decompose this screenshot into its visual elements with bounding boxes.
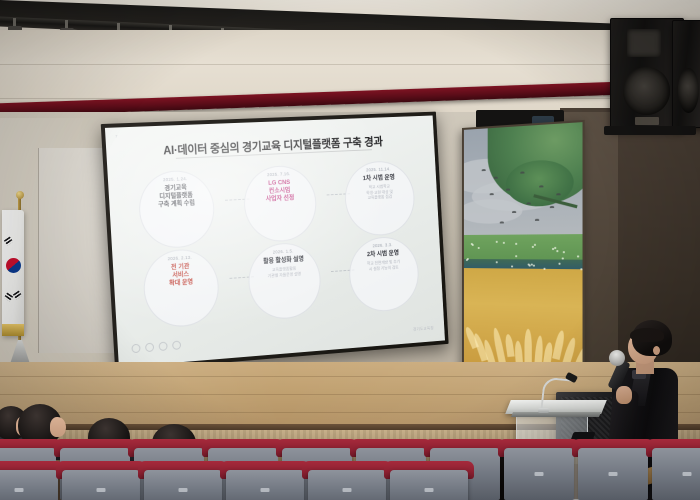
timeline-node: 2026. 3.3.2차 시범 운영학교 전면개방 및 추가시 설정 기능의 검… (339, 240, 427, 274)
mural-bird (535, 219, 539, 221)
speaker-badge (635, 117, 658, 125)
mural-bird (556, 193, 560, 195)
mural-bird (506, 188, 510, 190)
microphone-base (538, 408, 549, 413)
screen-surface: 7 AI·데이터 중심의 경기교육 디지털플랫폼 구축 경과 2025. 1.2… (105, 115, 445, 367)
auditorium-seat[interactable] (226, 470, 304, 500)
slide-dot-icons (131, 340, 181, 353)
dot-4-icon (172, 340, 181, 350)
slide-page-number: 7 (115, 133, 117, 138)
dot-1-icon (131, 344, 140, 354)
auditorium-seat[interactable] (504, 448, 574, 500)
auditorium-seat[interactable] (652, 448, 700, 500)
mural-flower (515, 255, 517, 257)
flag-cloth (2, 210, 24, 336)
lectern-shelf (511, 412, 601, 417)
timeline-node: 2025. 1.24.경기교육디지털플랫폼구축 계획 수립 (128, 174, 224, 211)
mural-bird (550, 206, 554, 208)
timeline-node: 2025. 7.16.LG CNS컨소시엄사업자 선정 (233, 170, 325, 206)
timeline-row-top: 2025. 1.24.경기교육디지털플랫폼구축 계획 수립2025. 7.16.… (108, 164, 435, 180)
mural-flower (477, 247, 479, 249)
auditorium-seat[interactable] (144, 470, 222, 500)
mural-bird (539, 185, 543, 187)
presenter-hand (616, 386, 632, 404)
presenter-fringe (630, 328, 664, 342)
pa-speaker (672, 20, 700, 128)
slide-logo: 경기도교육청 (413, 325, 434, 332)
screen-frame: 7 AI·데이터 중심의 경기교육 디지털플랫폼 구축 경과 2025. 1.2… (101, 112, 449, 372)
timeline-node-heading: LG CNS컨소시엄사업자 선정 (233, 177, 325, 206)
flag-finial-icon (16, 191, 24, 199)
landscape-wall-mural (462, 120, 585, 378)
speaker-mount-bracket (604, 126, 696, 135)
projection-screen: 7 AI·데이터 중심의 경기교육 디지털플랫폼 구축 경과 2025. 1.2… (101, 112, 449, 372)
timeline-node: 2025. 11.14.1차 시범 운영학교 시범학교학생·교원 대상 및교육플… (334, 165, 423, 203)
mural-bird (482, 169, 486, 171)
mural-bird (527, 202, 531, 204)
speaker-tweeter (627, 29, 662, 58)
timeline-node: 2026. 1.5.활용 활성화 설명교육플랫폼활용기관별 자율운영 설명 (237, 246, 329, 280)
flag-taeguk-icon (6, 258, 21, 273)
auditorium-scene: 7 AI·데이터 중심의 경기교육 디지털플랫폼 구축 경과 2025. 1.2… (0, 0, 700, 500)
auditorium-seat[interactable] (390, 470, 468, 500)
mural-flower (495, 241, 497, 243)
mural-flower (558, 262, 560, 264)
auditorium-seat[interactable] (578, 448, 648, 500)
timeline-node-heading: 경기교육디지털플랫폼구축 계획 수립 (128, 182, 223, 211)
mural-bird (520, 171, 524, 173)
mural-flower (532, 265, 534, 267)
mural-bird (500, 221, 504, 223)
mural-flower (577, 255, 579, 257)
flag-fringe (2, 324, 24, 336)
auditorium-seat[interactable] (62, 470, 140, 500)
timeline-node: 2026. 2.13.전 기관서비스확대 운영 (132, 253, 228, 291)
slide-title: AI·데이터 중심의 경기교육 디지털플랫폼 구축 경과 (163, 134, 383, 159)
dot-2-icon (145, 343, 154, 353)
dot-3-icon (159, 342, 168, 352)
south-korea-taegukgi-flag (4, 196, 40, 372)
mural-bird (490, 193, 494, 195)
auditorium-seat[interactable] (308, 470, 386, 500)
mural-wheat-stalk (525, 329, 532, 365)
auditorium-seat[interactable] (0, 470, 58, 500)
mural-bird (512, 211, 516, 213)
mural-bird (494, 177, 498, 179)
speaker-woofer (623, 67, 671, 114)
mural-flower (534, 244, 536, 246)
flag-stand (10, 340, 30, 364)
speaker-woofer (678, 68, 699, 114)
mural-flower (580, 268, 582, 270)
presenter-ear (653, 346, 660, 355)
